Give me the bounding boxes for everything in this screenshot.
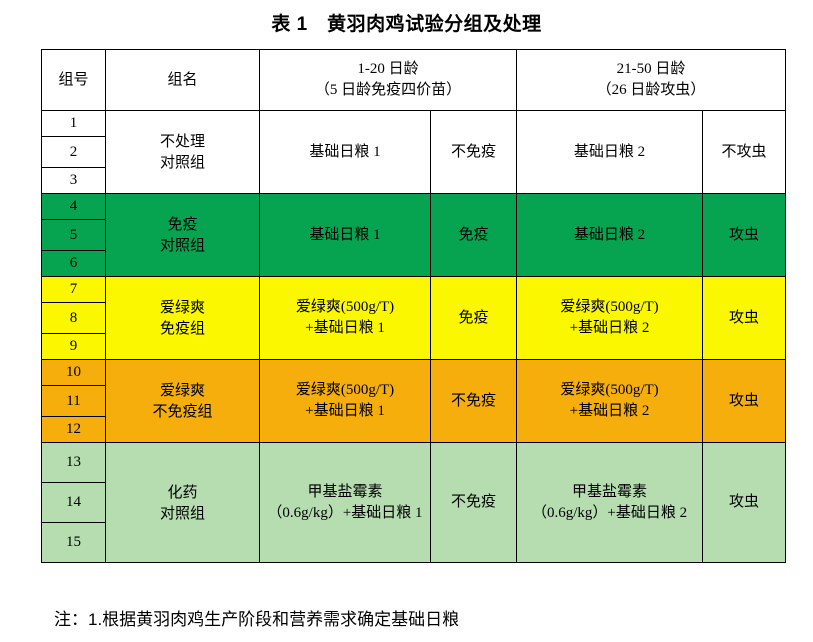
group-number-cell: 12 — [42, 417, 106, 443]
experiment-table-container: 组号 组名 1-20 日龄 （5 日龄免疫四价苗） 21-50 日龄 （26 日… — [41, 49, 785, 563]
phase1-diet-cell: 基础日粮 1 — [260, 111, 431, 194]
document-page: 表 1 黄羽肉鸡试验分组及处理 组号 组名 1-20 日龄 （5 日龄免疫四价苗… — [0, 0, 813, 642]
group-number-cell: 5 — [42, 220, 106, 251]
group-number-cell: 7 — [42, 277, 106, 303]
phase2-challenge-cell: 攻虫 — [703, 360, 786, 443]
group-name-line2: 免疫组 — [109, 318, 256, 339]
group-name-cell: 爱绿爽 免疫组 — [106, 277, 260, 360]
experiment-grouping-table: 组号 组名 1-20 日龄 （5 日龄免疫四价苗） 21-50 日龄 （26 日… — [41, 49, 786, 563]
phase2-diet-cell: 爱绿爽(500g/T)+基础日粮 2 — [517, 277, 703, 360]
group-name-line1: 免疫 — [109, 214, 256, 235]
phase1-immune-cell: 免疫 — [431, 277, 517, 360]
header-phase1-line1: 1-20 日龄 — [263, 59, 513, 80]
phase2-challenge-cell: 攻虫 — [703, 443, 786, 563]
header-phase1-line2: （5 日龄免疫四价苗） — [263, 80, 513, 101]
group-name-line2: 对照组 — [109, 503, 256, 524]
group-name-cell: 爱绿爽 不免疫组 — [106, 360, 260, 443]
group-name-line2: 对照组 — [109, 235, 256, 256]
group-number-cell: 13 — [42, 443, 106, 483]
phase1-diet-cell: 爱绿爽(500g/T)+基础日粮 1 — [260, 277, 431, 360]
phase1-immune-cell: 不免疫 — [431, 111, 517, 194]
group-number-cell: 10 — [42, 360, 106, 386]
group-number-cell: 6 — [42, 251, 106, 277]
table-note: 注：1.根据黄羽肉鸡生产阶段和营养需求确定基础日粮 — [54, 608, 459, 632]
group-name-cell: 免疫 对照组 — [106, 194, 260, 277]
table-row: 13 化药 对照组 甲基盐霉素（0.6g/kg）+基础日粮 1 不免疫 甲基盐霉… — [42, 443, 786, 483]
phase1-immune-cell: 不免疫 — [431, 443, 517, 563]
header-phase2-line2: （26 日龄攻虫） — [520, 80, 782, 101]
group-name-line1: 爱绿爽 — [109, 380, 256, 401]
table-header-row: 组号 组名 1-20 日龄 （5 日龄免疫四价苗） 21-50 日龄 （26 日… — [42, 50, 786, 111]
phase2-challenge-cell: 攻虫 — [703, 277, 786, 360]
group-number-cell: 14 — [42, 483, 106, 523]
group-number-cell: 9 — [42, 334, 106, 360]
phase2-diet-cell: 爱绿爽(500g/T)+基础日粮 2 — [517, 360, 703, 443]
phase2-diet-cell: 基础日粮 2 — [517, 194, 703, 277]
group-number-cell: 15 — [42, 523, 106, 563]
phase1-diet-cell: 甲基盐霉素（0.6g/kg）+基础日粮 1 — [260, 443, 431, 563]
header-group-name: 组名 — [106, 50, 260, 111]
header-phase1: 1-20 日龄 （5 日龄免疫四价苗） — [260, 50, 517, 111]
group-number-cell: 11 — [42, 386, 106, 417]
group-name-line1: 爱绿爽 — [109, 297, 256, 318]
phase2-challenge-cell: 攻虫 — [703, 194, 786, 277]
group-number-cell: 2 — [42, 137, 106, 168]
group-number-cell: 1 — [42, 111, 106, 137]
phase2-challenge-cell: 不攻虫 — [703, 111, 786, 194]
table-row: 10 爱绿爽 不免疫组 爱绿爽(500g/T)+基础日粮 1 不免疫 爱绿爽(5… — [42, 360, 786, 386]
page-title: 表 1 黄羽肉鸡试验分组及处理 — [0, 0, 813, 38]
group-name-line2: 不免疫组 — [109, 401, 256, 422]
group-name-line2: 对照组 — [109, 152, 256, 173]
phase1-immune-cell: 免疫 — [431, 194, 517, 277]
header-group-no: 组号 — [42, 50, 106, 111]
group-name-line1: 化药 — [109, 482, 256, 503]
phase1-diet-cell: 爱绿爽(500g/T)+基础日粮 1 — [260, 360, 431, 443]
table-row: 7 爱绿爽 免疫组 爱绿爽(500g/T)+基础日粮 1 免疫 爱绿爽(500g… — [42, 277, 786, 303]
group-number-cell: 8 — [42, 303, 106, 334]
phase2-diet-cell: 基础日粮 2 — [517, 111, 703, 194]
group-name-cell: 不处理 对照组 — [106, 111, 260, 194]
group-name-cell: 化药 对照组 — [106, 443, 260, 563]
header-phase2: 21-50 日龄 （26 日龄攻虫） — [517, 50, 786, 111]
group-number-cell: 3 — [42, 168, 106, 194]
phase1-diet-cell: 基础日粮 1 — [260, 194, 431, 277]
phase1-immune-cell: 不免疫 — [431, 360, 517, 443]
table-row: 1 不处理 对照组 基础日粮 1 不免疫 基础日粮 2 不攻虫 — [42, 111, 786, 137]
table-row: 4 免疫 对照组 基础日粮 1 免疫 基础日粮 2 攻虫 — [42, 194, 786, 220]
header-phase2-line1: 21-50 日龄 — [520, 59, 782, 80]
group-name-line1: 不处理 — [109, 131, 256, 152]
table-body: 组号 组名 1-20 日龄 （5 日龄免疫四价苗） 21-50 日龄 （26 日… — [42, 50, 786, 563]
phase2-diet-cell: 甲基盐霉素（0.6g/kg）+基础日粮 2 — [517, 443, 703, 563]
group-number-cell: 4 — [42, 194, 106, 220]
